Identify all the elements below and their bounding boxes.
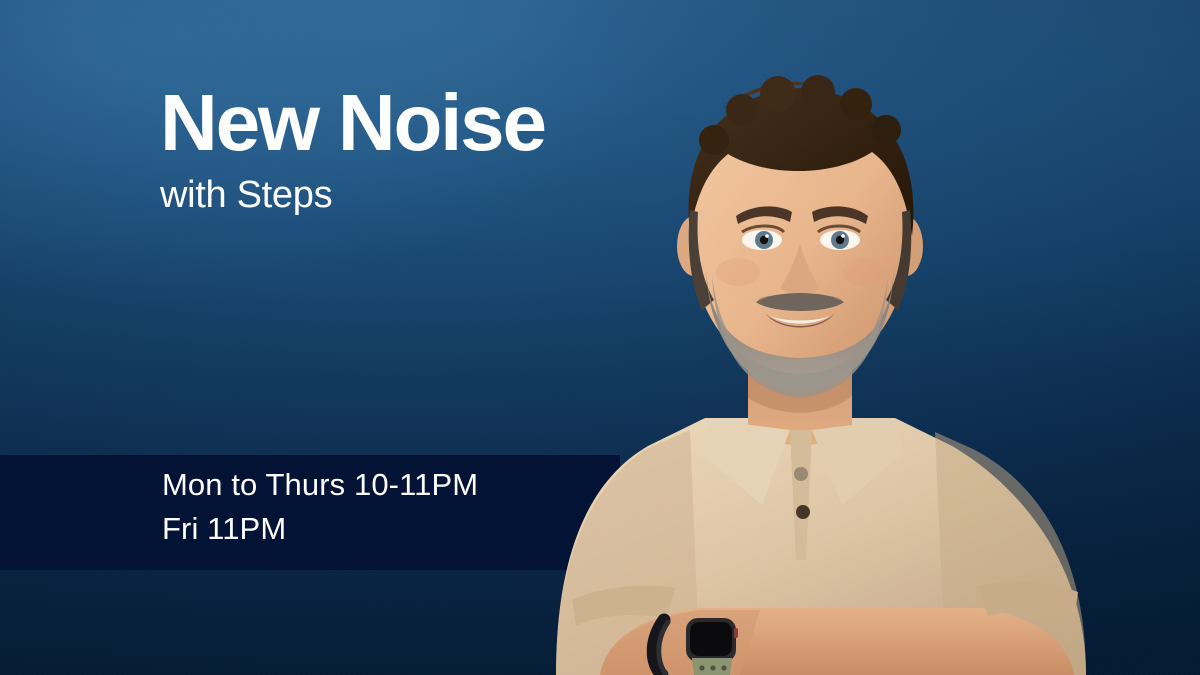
schedule-text: Mon to Thurs 10-11PM Fri 11PM <box>162 463 478 551</box>
show-promo-card: Smiling middle-aged man with short dark … <box>0 0 1200 675</box>
show-title: New Noise <box>160 82 545 164</box>
schedule-line-2: Fri 11PM <box>162 507 478 551</box>
show-subtitle: with Steps <box>160 172 545 218</box>
schedule-line-1: Mon to Thurs 10-11PM <box>162 463 478 507</box>
title-block: New Noise with Steps <box>160 82 545 218</box>
